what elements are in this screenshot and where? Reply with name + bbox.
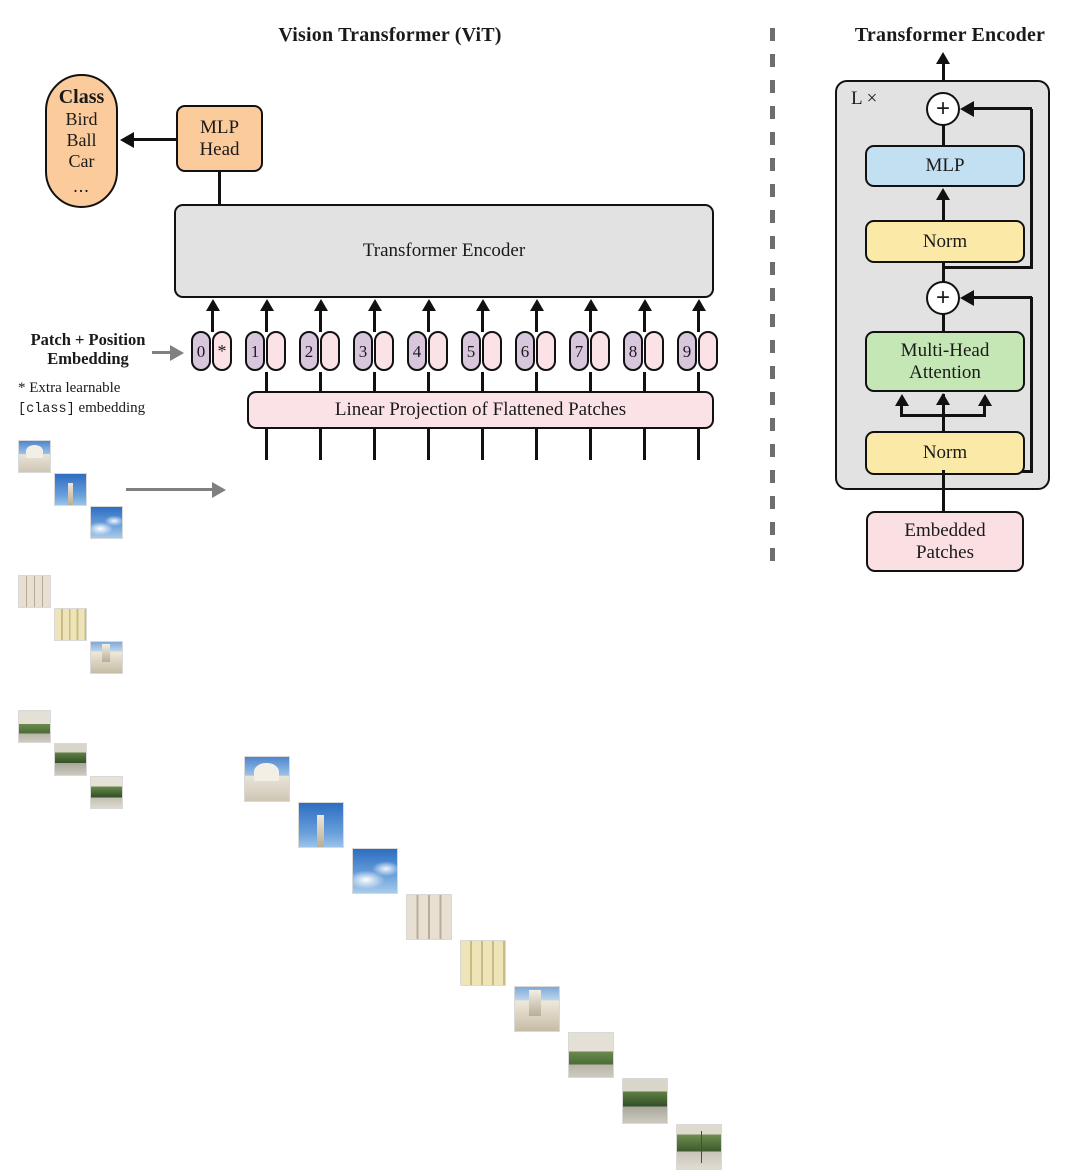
residual-add-bottom: + [926, 281, 960, 315]
class-item-car: Car [69, 151, 95, 172]
patch-to-projection-line-9 [697, 428, 700, 460]
attention-label-line2: Attention [909, 362, 981, 383]
linear-projection-label: Linear Projection of Flattened Patches [335, 399, 626, 420]
token-to-encoder-arrowhead-0 [206, 299, 220, 311]
projection-to-token-line-7 [589, 372, 592, 392]
embedding-label-arrowhead [170, 345, 184, 361]
token-pair-9[interactable]: 9 [677, 331, 718, 371]
token-to-encoder-arrowhead-7 [584, 299, 598, 311]
patch-to-projection-line-4 [427, 428, 430, 460]
patch-embedding-pill-7[interactable] [590, 331, 610, 371]
position-embedding-pill-3[interactable]: 3 [353, 331, 373, 371]
patch-embedding-pill-5[interactable] [482, 331, 502, 371]
source-image-patch-r0-c2 [90, 506, 123, 539]
position-embedding-pill-6[interactable]: 6 [515, 331, 535, 371]
flattened-patch-2 [298, 802, 344, 848]
plus-symbol-top: + [936, 97, 950, 121]
flattened-patch-5 [460, 940, 506, 986]
patch-embedding-pill-8[interactable] [644, 331, 664, 371]
residual-skip-top-arrowhead [960, 101, 974, 117]
flattened-patch-1 [244, 756, 290, 802]
qkv-center-arrowhead [936, 393, 950, 405]
position-embedding-pill-0[interactable]: 0 [191, 331, 211, 371]
source-image-patch-r2-c1 [54, 743, 87, 776]
patch-position-embedding-label: Patch + Position Embedding [8, 330, 168, 369]
token-to-encoder-arrowhead-5 [476, 299, 490, 311]
repeat-count-label: L × [851, 88, 877, 110]
embedded-patches-line2: Patches [916, 542, 974, 563]
class-output-box: Class Bird Ball Car ... [45, 74, 118, 208]
token-pair-7[interactable]: 7 [569, 331, 610, 371]
norm-bottom-block: Norm [865, 431, 1025, 475]
position-embedding-pill-4[interactable]: 4 [407, 331, 427, 371]
residual-skip-top-bottom-line [942, 266, 1033, 269]
extra-learnable-footnote: * Extra learnable [class] embedding [18, 379, 188, 418]
residual-skip-bottom-arrowhead [960, 290, 974, 306]
token-to-encoder-line-2 [319, 310, 322, 332]
projection-to-token-line-4 [427, 372, 430, 392]
embedded-patches-to-norm-line [942, 470, 945, 514]
token-to-encoder-arrowhead-9 [692, 299, 706, 311]
mlp-to-class-line [134, 138, 176, 141]
class-token-code: [class] [18, 402, 75, 417]
source-image-patch-r2-c2 [90, 776, 123, 809]
projection-to-token-line-3 [373, 372, 376, 392]
patch-embedding-pill-6[interactable] [536, 331, 556, 371]
residual-skip-top-top-line [974, 107, 1032, 110]
class-item-bird: Bird [65, 109, 97, 130]
norm-top-to-mlp-arrowhead [936, 188, 950, 200]
projection-to-token-line-9 [697, 372, 700, 392]
left-panel-title: Vision Transformer (ViT) [230, 24, 550, 47]
flattened-patch-7 [568, 1032, 614, 1078]
source-image-patch-r1-c0 [18, 575, 51, 608]
norm-top-block: Norm [865, 220, 1025, 263]
mlp-block: MLP [865, 145, 1025, 187]
footnote-line2: [class] embedding [18, 399, 188, 419]
token-to-encoder-line-0 [211, 310, 214, 332]
residual-skip-bottom-top-line [974, 296, 1032, 299]
class-heading: Class [59, 86, 105, 108]
token-to-encoder-arrowhead-2 [314, 299, 328, 311]
mlp-head-box: MLP Head [176, 105, 263, 172]
token-to-encoder-line-7 [589, 310, 592, 332]
token-pair-1[interactable]: 1 [245, 331, 286, 371]
patch-embedding-pill-3[interactable] [374, 331, 394, 371]
patch-to-projection-line-7 [589, 428, 592, 460]
patch-embedding-pill-4[interactable] [428, 331, 448, 371]
patch-to-projection-line-6 [535, 428, 538, 460]
position-embedding-pill-9[interactable]: 9 [677, 331, 697, 371]
position-embedding-pill-8[interactable]: 8 [623, 331, 643, 371]
mlp-head-line1: MLP [200, 117, 239, 138]
residual-add-top: + [926, 92, 960, 126]
class-ellipsis: ... [73, 176, 90, 196]
token-pair-8[interactable]: 8 [623, 331, 664, 371]
patch-to-projection-line-8 [643, 428, 646, 460]
token-pair-0[interactable]: 0* [191, 331, 232, 371]
patch-to-projection-line-2 [319, 428, 322, 460]
plus-symbol-bottom: + [936, 286, 950, 310]
token-to-encoder-arrowhead-1 [260, 299, 274, 311]
patch-embedding-pill-9[interactable] [698, 331, 718, 371]
transformer-encoder-box: Transformer Encoder [174, 204, 714, 298]
mlp-block-label: MLP [925, 155, 964, 176]
token-to-encoder-line-8 [643, 310, 646, 332]
flattened-patch-9 [676, 1124, 722, 1170]
position-embedding-pill-2[interactable]: 2 [299, 331, 319, 371]
projection-to-token-line-2 [319, 372, 322, 392]
flattened-patch-4 [406, 894, 452, 940]
source-image-patch-r1-c2 [90, 641, 123, 674]
embedded-patches-box: Embedded Patches [866, 511, 1024, 572]
patch-embedding-pill-2[interactable] [320, 331, 340, 371]
mlp-to-class-arrowhead [120, 132, 134, 148]
encoder-output-arrowhead [936, 52, 950, 64]
source-image-patch-r0-c0 [18, 440, 51, 473]
source-to-patches-arrowhead [212, 482, 226, 498]
token-to-encoder-arrowhead-4 [422, 299, 436, 311]
flattened-patch-6 [514, 986, 560, 1032]
class-token-pill[interactable]: * [212, 331, 232, 371]
residual-skip-top-vertical [1030, 109, 1033, 269]
patch-to-projection-line-3 [373, 428, 376, 460]
token-pair-6[interactable]: 6 [515, 331, 556, 371]
qkv-right-arrowhead [978, 394, 992, 406]
attention-label-line1: Multi-Head [901, 340, 990, 361]
mlp-head-to-encoder-line [218, 171, 221, 207]
norm-bottom-label: Norm [923, 442, 967, 463]
position-embedding-pill-5[interactable]: 5 [461, 331, 481, 371]
norm-top-to-mlp-line [942, 198, 945, 221]
flattened-patch-8 [622, 1078, 668, 1124]
transformer-encoder-label: Transformer Encoder [363, 240, 525, 261]
flattened-patch-3 [352, 848, 398, 894]
token-to-encoder-line-5 [481, 310, 484, 332]
position-embedding-pill-1[interactable]: 1 [245, 331, 265, 371]
patch-to-projection-line-1 [265, 428, 268, 460]
residual-skip-bottom-vertical [1030, 297, 1033, 473]
panel-divider [770, 28, 775, 572]
footnote-line2-suffix: embedding [75, 400, 145, 416]
position-embedding-pill-7[interactable]: 7 [569, 331, 589, 371]
embedding-label-line1: Patch + Position [8, 330, 168, 349]
token-to-encoder-line-1 [265, 310, 268, 332]
norm-top-label: Norm [923, 231, 967, 252]
token-to-encoder-line-3 [373, 310, 376, 332]
right-panel-title: Transformer Encoder [820, 24, 1080, 47]
patch-embedding-pill-1[interactable] [266, 331, 286, 371]
class-item-ball: Ball [67, 130, 97, 151]
embedding-label-line2: Embedding [8, 349, 168, 368]
projection-to-token-line-5 [481, 372, 484, 392]
token-pair-4[interactable]: 4 [407, 331, 448, 371]
token-to-encoder-line-6 [535, 310, 538, 332]
token-pair-5[interactable]: 5 [461, 331, 502, 371]
source-image-patch-r0-c1 [54, 473, 87, 506]
token-to-encoder-arrowhead-8 [638, 299, 652, 311]
token-to-encoder-line-9 [697, 310, 700, 332]
token-to-encoder-arrowhead-3 [368, 299, 382, 311]
embedded-patches-line1: Embedded [904, 520, 985, 541]
footnote-line1: * Extra learnable [18, 379, 188, 399]
mlp-head-line2: Head [199, 139, 239, 160]
patch-to-projection-line-5 [481, 428, 484, 460]
token-to-encoder-line-4 [427, 310, 430, 332]
projection-to-token-line-8 [643, 372, 646, 392]
source-to-patches-line [126, 488, 214, 491]
mlp-to-add-line [942, 125, 945, 147]
linear-projection-box: Linear Projection of Flattened Patches [247, 391, 714, 429]
qkv-left-arrowhead [895, 394, 909, 406]
source-image-patch-r2-c0 [18, 710, 51, 743]
token-pair-3[interactable]: 3 [353, 331, 394, 371]
projection-to-token-line-1 [265, 372, 268, 392]
token-to-encoder-arrowhead-6 [530, 299, 544, 311]
attention-to-add-line [942, 313, 945, 333]
token-pair-2[interactable]: 2 [299, 331, 340, 371]
multi-head-attention-block: Multi-Head Attention [865, 331, 1025, 392]
projection-to-token-line-6 [535, 372, 538, 392]
source-image-patch-r1-c1 [54, 608, 87, 641]
